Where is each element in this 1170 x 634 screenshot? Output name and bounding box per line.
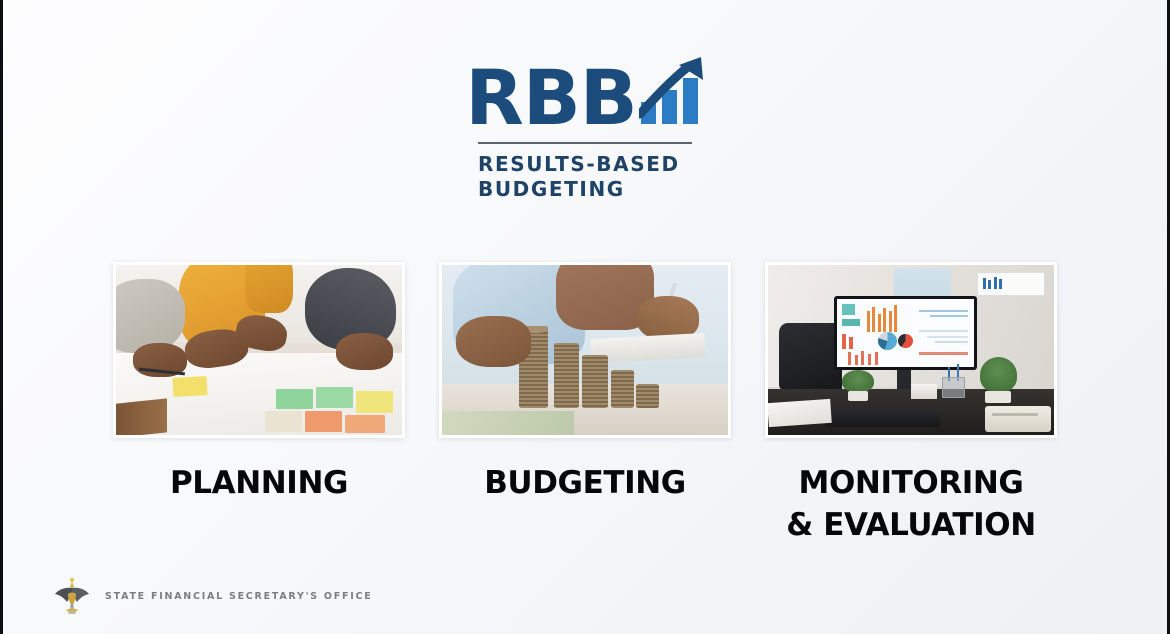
logo-tagline: RESULTS-BASED BUDGETING [478, 152, 692, 202]
card-budgeting: BUDGETING [439, 262, 731, 546]
coin-stacks-budget-photo [442, 265, 728, 435]
card-monitoring-evaluation: MONITORING & EVALUATION [765, 262, 1057, 546]
process-cards: PLANNING [113, 262, 1057, 546]
card-caption-budgeting: BUDGETING [484, 462, 686, 504]
state-crest-eagle-emblem [52, 575, 92, 617]
team-planning-over-documents-photo [116, 265, 402, 435]
logo-tagline-line-1: RESULTS-BASED [478, 152, 692, 177]
slide-canvas: RBB RESULTS-BASED BUDGETING [0, 0, 1170, 634]
planning-photo-frame [113, 262, 405, 438]
card-caption-planning: PLANNING [170, 462, 348, 504]
card-caption-monitoring-evaluation: MONITORING & EVALUATION [786, 462, 1036, 546]
budgeting-photo-frame [439, 262, 731, 438]
growth-arrow-bar-chart-icon [639, 56, 705, 131]
footer-organization-name: STATE FINANCIAL SECRETARY'S OFFICE [105, 591, 372, 602]
monitoring-photo-frame [765, 262, 1057, 438]
logo-tagline-line-2: BUDGETING [478, 177, 692, 202]
logo-divider-rule [478, 142, 692, 144]
rbb-logo: RBB RESULTS-BASED BUDGETING [0, 58, 1170, 202]
card-planning: PLANNING [113, 262, 405, 546]
logo-mark: RBB [465, 58, 704, 134]
footer: STATE FINANCIAL SECRETARY'S OFFICE [52, 575, 372, 617]
logo-wordmark: RBB [465, 62, 636, 134]
desk-monitor-dashboard-photo [768, 265, 1054, 435]
